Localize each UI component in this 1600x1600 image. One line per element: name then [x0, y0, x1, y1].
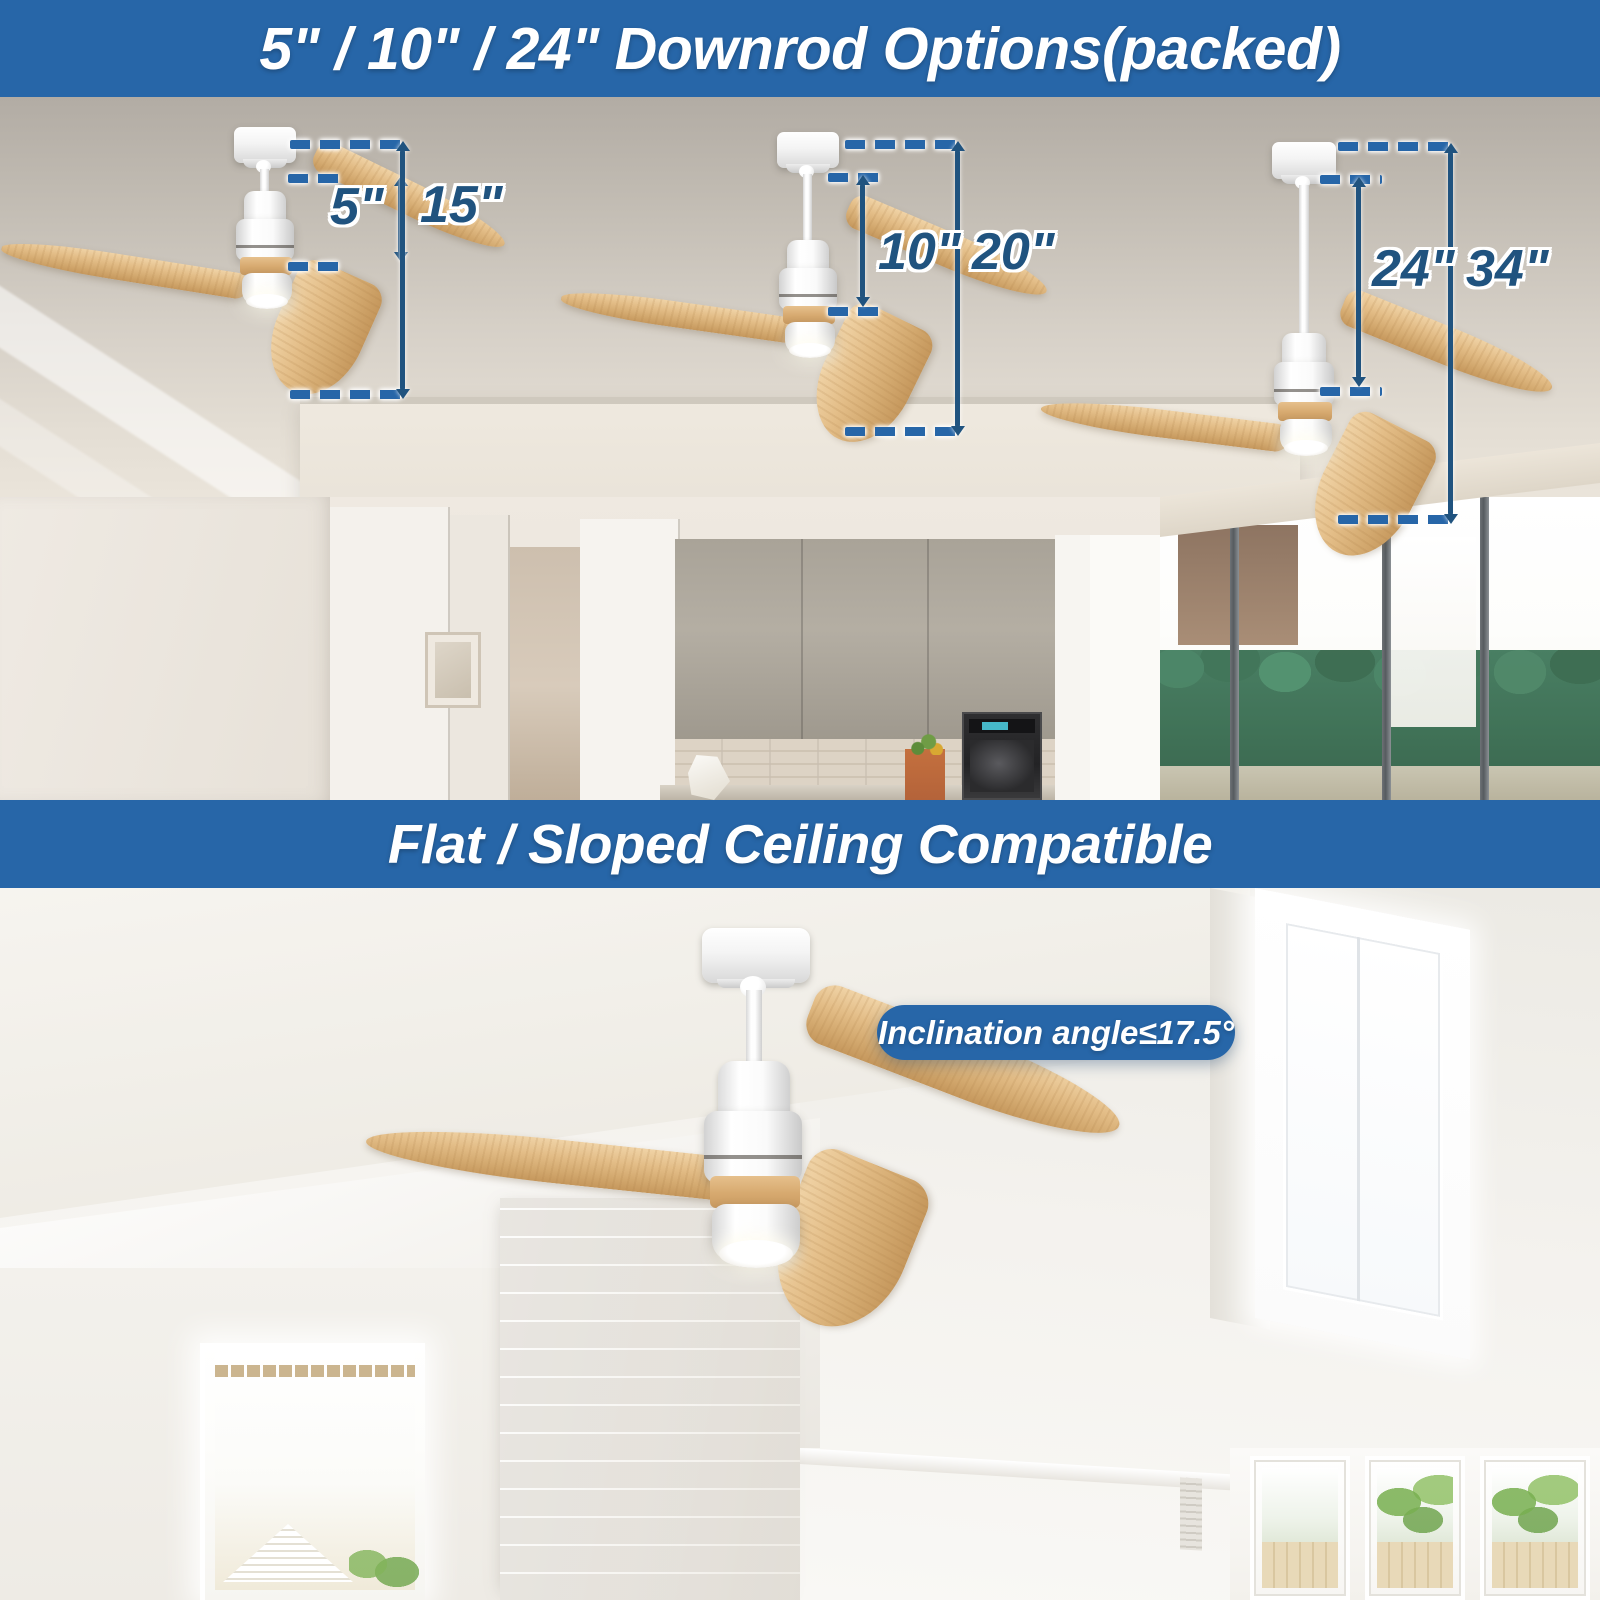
fan-canopy: [702, 928, 810, 983]
upper-kitchen-cabinets: [675, 539, 1055, 739]
fan-motor-housing: [779, 268, 837, 310]
dimension-arrow-downrod: [1356, 186, 1361, 378]
dimension-guide-top: [1338, 142, 1458, 151]
downrod: [1299, 185, 1309, 337]
middle-banner-title: Flat / Sloped Ceiling Compatible: [388, 812, 1212, 876]
led-light-kit: [1280, 419, 1332, 452]
led-light-kit: [785, 322, 835, 354]
downrod: [803, 174, 812, 244]
dimension-guide-bottom: [1338, 515, 1458, 524]
dimension-label-downrod: 24": [1372, 239, 1455, 299]
doorway: [510, 547, 580, 800]
vegetable-basket: [905, 749, 945, 800]
fan-motor-housing: [1274, 362, 1334, 406]
wall-vent: [1180, 1477, 1202, 1550]
sloped-ceiling-scene: Inclination angle≤17.5°: [0, 888, 1600, 1600]
product-infographic: 5" / 10" / 24" Downrod Options(packed): [0, 0, 1600, 1600]
dimension-arrow-downrod: [860, 184, 865, 298]
flat-ceiling-scene: 5" 15" 10": [0, 97, 1600, 800]
fan-motor-housing: [704, 1111, 802, 1183]
fan-canopy: [777, 132, 839, 168]
framed-artwork: [425, 632, 481, 708]
dimension-guide-top: [845, 140, 965, 149]
dimension-label-total: 34": [1466, 239, 1549, 299]
inclination-angle-badge: Inclination angle≤17.5°: [877, 1005, 1235, 1060]
led-light-kit: [242, 273, 292, 305]
downrod: [746, 990, 762, 1068]
built-in-oven: [962, 712, 1042, 800]
dimension-label-total: 20": [972, 222, 1055, 282]
dimension-guide-rod-bottom: [288, 262, 343, 271]
dimension-guide-rod-bottom: [828, 307, 888, 316]
inclination-angle-label: Inclination angle≤17.5°: [878, 1014, 1234, 1052]
top-banner-title: 5" / 10" / 24" Downrod Options(packed): [259, 15, 1340, 83]
left-wall: [0, 497, 330, 800]
dimension-arrow-total: [400, 150, 405, 390]
tall-cabinet: [580, 519, 680, 800]
dormer-window: [1255, 888, 1470, 1360]
dimension-label-total: 15": [420, 175, 503, 235]
dimension-guide-bottom: [845, 427, 965, 436]
ceiling-fan-24in: [1240, 142, 1560, 502]
open-door-view: [200, 1343, 425, 1600]
french-doors: [1230, 1448, 1600, 1600]
middle-banner: Flat / Sloped Ceiling Compatible: [0, 800, 1600, 888]
fan-canopy: [234, 127, 296, 163]
dimension-guide-rod-bottom: [1320, 387, 1382, 396]
tall-cabinet: [1090, 535, 1165, 800]
dimension-guide-bottom: [290, 390, 410, 399]
fan-motor-housing: [236, 219, 294, 261]
fan-canopy: [1272, 142, 1336, 179]
top-banner: 5" / 10" / 24" Downrod Options(packed): [0, 0, 1600, 97]
dimension-arrow-total: [1448, 152, 1453, 515]
dimension-arrow-total: [955, 150, 960, 427]
dimension-label-downrod: 5": [330, 177, 384, 237]
dimension-guide-top: [290, 140, 410, 149]
ceiling-fan-5in: [200, 127, 460, 357]
ceiling-fan-sloped: [640, 928, 1200, 1328]
led-light-kit: [712, 1204, 800, 1262]
dimension-label-downrod: 10": [878, 222, 961, 282]
